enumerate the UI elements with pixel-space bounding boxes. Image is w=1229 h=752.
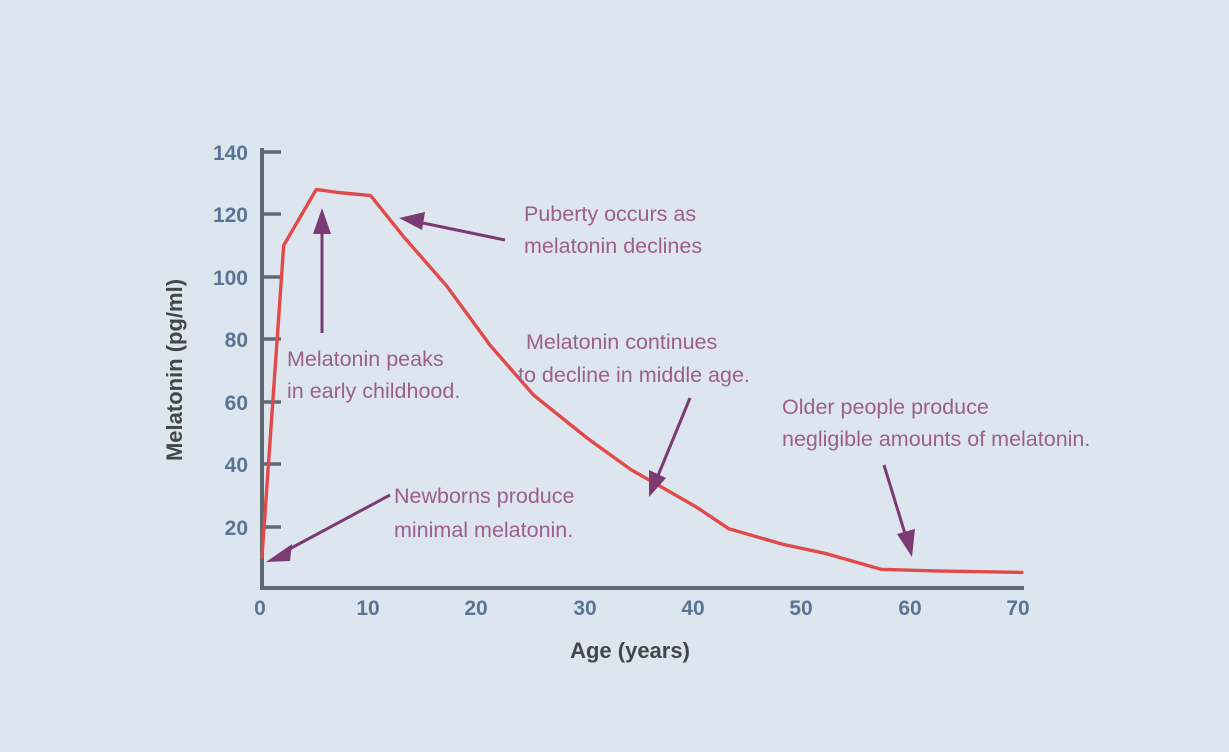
puberty-annotation-line2: melatonin declines — [524, 234, 702, 258]
x-tick-label-60: 60 — [898, 597, 921, 620]
x-tick-label-0: 0 — [254, 597, 266, 620]
newborns-annotation-line2: minimal melatonin. — [394, 518, 573, 542]
x-axis-title: Age (years) — [570, 638, 690, 663]
middle-age-annotation-line2: to decline in middle age. — [518, 363, 750, 387]
x-tick-label-40: 40 — [681, 597, 704, 620]
y-tick-label-60: 60 — [225, 392, 248, 415]
chart-svg: 140 120 100 80 60 40 20 Melatonin (pg/ml… — [0, 0, 1229, 752]
x-tick-label-30: 30 — [573, 597, 596, 620]
y-tick-label-140: 140 — [213, 142, 248, 165]
y-axis-title: Melatonin (pg/ml) — [162, 279, 187, 461]
y-tick-label-40: 40 — [225, 454, 248, 477]
y-tick-label-120: 120 — [213, 204, 248, 227]
x-tick-label-20: 20 — [464, 597, 487, 620]
newborns-annotation-line1: Newborns produce — [394, 484, 574, 508]
peak-annotation-line1: Melatonin peaks — [287, 347, 444, 371]
older-annotation-line1: Older people produce — [782, 395, 989, 419]
peak-annotation-line2: in early childhood. — [287, 379, 460, 403]
melatonin-age-chart: 140 120 100 80 60 40 20 Melatonin (pg/ml… — [0, 0, 1229, 752]
older-annotation-line2: negligible amounts of melatonin. — [782, 427, 1090, 451]
x-tick-label-50: 50 — [789, 597, 812, 620]
x-tick-label-10: 10 — [356, 597, 379, 620]
puberty-annotation-line1: Puberty occurs as — [524, 202, 696, 226]
y-tick-label-80: 80 — [225, 329, 248, 352]
middle-age-annotation-line1: Melatonin continues — [526, 330, 717, 354]
y-tick-label-20: 20 — [225, 517, 248, 540]
x-tick-label-70: 70 — [1006, 597, 1029, 620]
y-tick-label-100: 100 — [213, 267, 248, 290]
